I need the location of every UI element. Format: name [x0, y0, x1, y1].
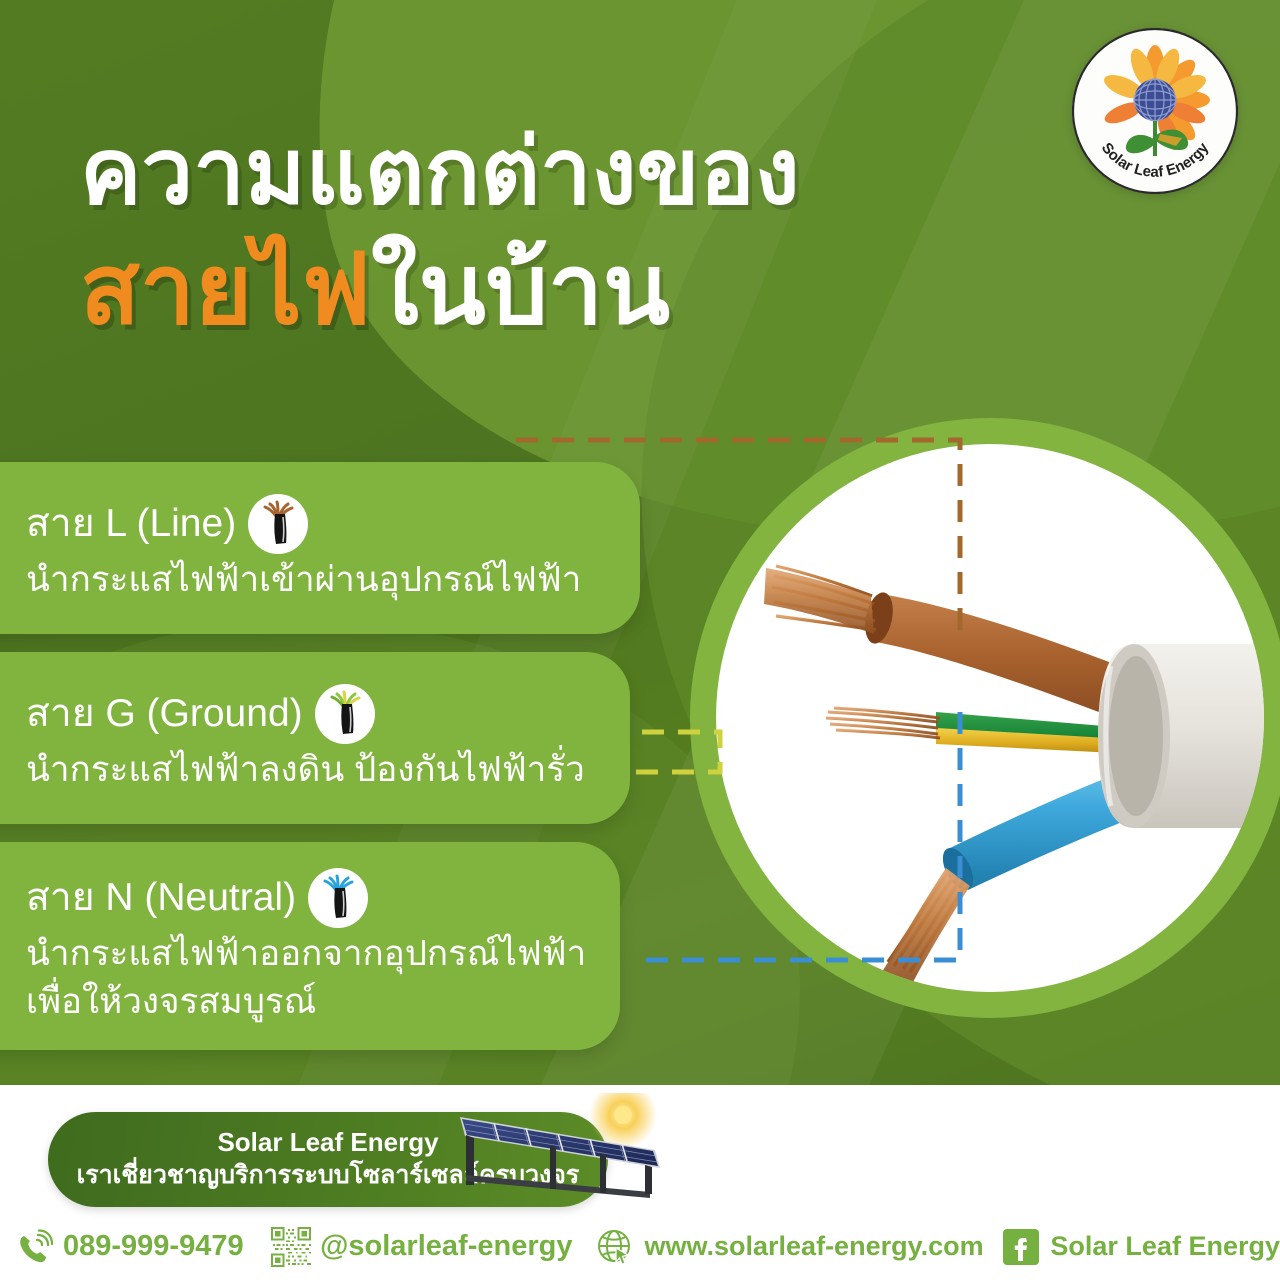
wire-card-neutral[interactable]: สาย N (Neutral) นำกระแสไฟฟ้าออกจากอุปกรณ…: [0, 842, 620, 1050]
footer: Solar Leaf Energy เราเชี่ยวชาญบริการระบบ…: [0, 1085, 1280, 1280]
wire-card-ground[interactable]: สาย G (Ground) นำกระแสไฟฟ้าลงดิน ป้องกัน…: [0, 652, 630, 824]
wire-card-description: นำกระแสไฟฟ้าลงดิน ป้องกันไฟฟ้ารั่ว: [26, 748, 630, 792]
wire-strands-brown-icon: [248, 494, 308, 554]
contact-line[interactable]: @solarleaf-energy: [271, 1227, 572, 1267]
wire-card-description: นำกระแสไฟฟ้าเข้าผ่านอุปกรณ์ไฟฟ้า: [26, 558, 640, 602]
wire-card-line[interactable]: สาย L (Line) นำกระแสไฟฟ้าเข้าผ่านอุปกรณ์…: [0, 462, 640, 634]
brand-logo[interactable]: Solar Leaf Energy: [1072, 28, 1238, 194]
globe-cursor-icon: [594, 1226, 636, 1268]
wire-card-heading: สาย N (Neutral): [26, 876, 296, 920]
phone-ringing-icon: [14, 1227, 54, 1267]
wire-card-heading: สาย L (Line): [26, 502, 236, 546]
wire-strands-greenyellow-icon: [315, 684, 375, 744]
website-url: www.solarleaf-energy.com: [645, 1231, 984, 1262]
wire-card-description-2: เพื่อให้วงจรสมบูรณ์: [26, 980, 620, 1024]
facebook-page-name: Solar Leaf Energy: [1050, 1231, 1280, 1262]
title-accent-word: สายไฟ: [80, 234, 371, 344]
cable-illustration: [716, 444, 1264, 992]
footer-brand-title: Solar Leaf Energy: [217, 1127, 438, 1158]
page-title: ความแตกต่างของ สายไฟในบ้าน: [80, 126, 1060, 338]
phone-number: 089-999-9479: [63, 1230, 244, 1263]
infographic-poster: Solar Leaf Energy ความแตกต่างของ สายไฟใน…: [0, 0, 1280, 1280]
wire-card-heading-row: สาย G (Ground): [26, 684, 630, 744]
wire-card-heading-row: สาย L (Line): [26, 494, 640, 554]
qr-code-icon: [271, 1227, 311, 1267]
wire-card-description: นำกระแสไฟฟ้าออกจากอุปกรณ์ไฟฟ้า: [26, 932, 620, 976]
wire-card-heading: สาย G (Ground): [26, 692, 303, 736]
contact-facebook[interactable]: Solar Leaf Energy: [1001, 1227, 1280, 1267]
contact-phone[interactable]: 089-999-9479: [14, 1227, 244, 1267]
cable-photo: [716, 444, 1264, 992]
line-id: @solarleaf-energy: [320, 1230, 572, 1263]
title-line-1: ความแตกต่างของ: [80, 126, 1060, 218]
solar-panel-array-icon: [440, 1093, 690, 1208]
contact-bar: 089-999-9479: [0, 1213, 1280, 1280]
wire-card-heading-row: สาย N (Neutral): [26, 868, 620, 928]
title-line-2: สายไฟในบ้าน: [80, 240, 1060, 338]
wire-strands-blue-icon: [308, 868, 368, 928]
contact-website[interactable]: www.solarleaf-energy.com: [594, 1226, 984, 1268]
sunflower-solar-logo-icon: Solar Leaf Energy: [1072, 28, 1238, 194]
title-rest-word: ในบ้าน: [371, 234, 670, 344]
facebook-icon: [1001, 1227, 1041, 1267]
